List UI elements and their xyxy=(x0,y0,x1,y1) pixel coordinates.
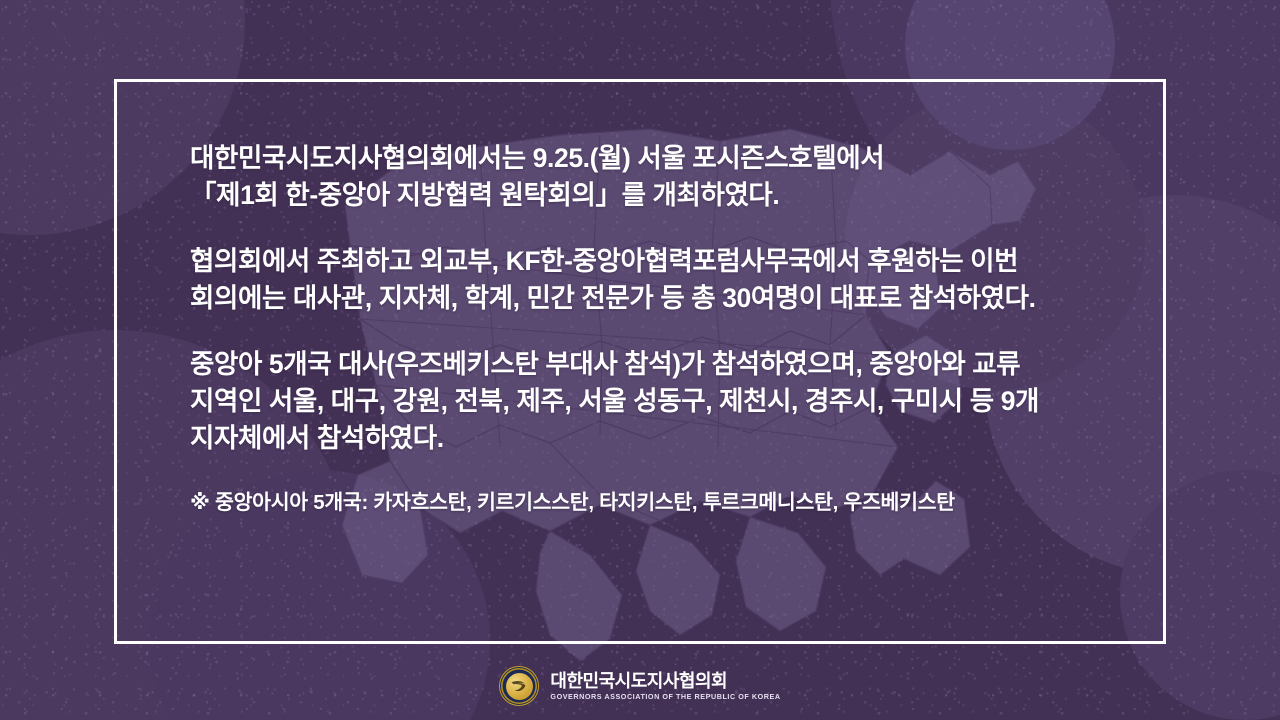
paragraph-1-line-2: 「제1회 한-중앙아 지방협력 원탁회의」를 개최하였다. xyxy=(190,177,1090,214)
logo-name-english: GOVERNORS ASSOCIATION OF THE REPUBLIC OF… xyxy=(550,693,780,700)
paragraph-3-line-2: 지역인 서울, 대구, 강원, 전북, 제주, 서울 성동구, 제천시, 경주시… xyxy=(190,383,1090,420)
slide-canvas: 대한민국시도지사협의회에서는 9.25.(월) 서울 포시즌스호텔에서 「제1회… xyxy=(0,0,1280,720)
paragraph-2: 협의회에서 주최하고 외교부, KF한-중앙아협력포럼사무국에서 후원하는 이번… xyxy=(190,243,1090,317)
paragraph-2-line-1: 협의회에서 주최하고 외교부, KF한-중앙아협력포럼사무국에서 후원하는 이번 xyxy=(190,243,1090,280)
paragraph-2-line-2: 회의에는 대사관, 지자체, 학계, 민간 전문가 등 총 30여명이 대표로 … xyxy=(190,280,1090,317)
paragraph-1-line-1: 대한민국시도지사협의회에서는 9.25.(월) 서울 포시즌스호텔에서 xyxy=(190,140,1090,177)
text-content-block: 대한민국시도지사협의회에서는 9.25.(월) 서울 포시즌스호텔에서 「제1회… xyxy=(190,140,1090,517)
paragraph-3: 중앙아 5개국 대사(우즈베키스탄 부대사 참석)가 참석하였으며, 중앙아와 … xyxy=(190,346,1090,457)
paragraph-1: 대한민국시도지사협의회에서는 9.25.(월) 서울 포시즌스호텔에서 「제1회… xyxy=(190,140,1090,214)
footnote-text: ※ 중앙아시아 5개국: 카자흐스탄, 키르기스스탄, 타지키스탄, 투르크메니… xyxy=(190,489,1090,517)
governors-association-emblem-icon xyxy=(499,666,539,706)
paragraph-3-line-3: 지자체에서 참석하였다. xyxy=(190,420,1090,457)
organization-logo: 대한민국시도지사협의회 GOVERNORS ASSOCIATION OF THE… xyxy=(0,662,1280,710)
logo-name-korean: 대한민국시도지사협의회 xyxy=(550,672,780,690)
paragraph-3-line-1: 중앙아 5개국 대사(우즈베키스탄 부대사 참석)가 참석하였으며, 중앙아와 … xyxy=(190,346,1090,383)
logo-text-block: 대한민국시도지사협의회 GOVERNORS ASSOCIATION OF THE… xyxy=(550,672,780,700)
